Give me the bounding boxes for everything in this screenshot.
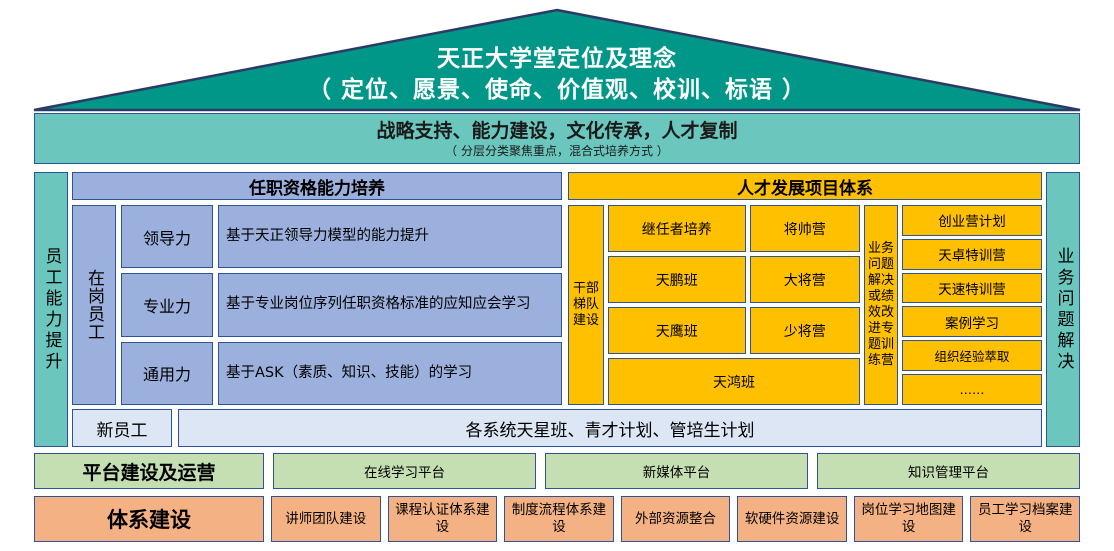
new-employee-programs: 各系统天星班、青才计划、管培生计划	[178, 409, 1042, 447]
qualification-row: 专业力 基于专业岗位序列任职资格标准的应知应会学习	[121, 273, 562, 336]
cadre-row: 天鹰班 少将营	[608, 307, 860, 354]
system-item-trainer-team: 讲师团队建设	[271, 496, 381, 542]
cadre-tianpeng-class: 天鹏班	[608, 256, 746, 303]
system-construction-row: 体系建设 讲师团队建设 课程认证体系建设 制度流程体系建设 外部资源整合 软硬件…	[34, 496, 1080, 542]
capability-leadership: 领导力	[121, 205, 213, 268]
diagram-root: 天正大学堂定位及理念 （ 定位、愿景、使命、价值观、校训、标语 ） 战略支持、能…	[0, 0, 1114, 551]
capability-general: 通用力	[121, 342, 213, 405]
new-employee-tag: 新员工	[72, 409, 172, 447]
cadre-minor-general-camp: 少将营	[750, 307, 860, 354]
business-program-list: 创业营计划 天卓特训营 天速特训营 案例学习 组织经验萃取 ……	[902, 205, 1042, 405]
system-item-hardware-software: 软硬件资源建设	[737, 496, 847, 542]
system-item-course-certification: 课程认证体系建设	[388, 496, 498, 542]
platform-row: 平台建设及运营 在线学习平台 新媒体平台 知识管理平台	[34, 453, 1080, 489]
talent-development-group: 人才发展项目体系 干部梯队建设 继任者培养 将帅营 天鹏班 大将营	[568, 172, 1042, 405]
qualification-row: 通用力 基于ASK（素质、知识、技能）的学习	[121, 342, 562, 405]
cadre-tianying-class: 天鹰班	[608, 307, 746, 354]
system-item-learning-records: 员工学习档案建设	[970, 496, 1080, 542]
system-lead-label: 体系建设	[34, 496, 264, 542]
system-item-learning-map: 岗位学习地图建设	[854, 496, 964, 542]
cadre-successor-training: 继任者培养	[608, 205, 746, 252]
platform-item-online-learning: 在线学习平台	[273, 453, 536, 489]
cadre-general-camp: 将帅营	[750, 205, 860, 252]
center-column: 任职资格能力培养 在岗员工 领导力 基于天正领导力模型的能力提升 专业力 基于专…	[72, 172, 1042, 447]
cadre-row: 天鸿班	[608, 358, 860, 405]
right-pillar-business-problem-solving: 业务问题解决	[1046, 172, 1080, 447]
qualification-row: 领导力 基于天正领导力模型的能力提升	[121, 205, 562, 268]
main-body: 员工能力提升 任职资格能力培养 在岗员工 领导力 基于天正领导力模型的能力提升	[34, 172, 1080, 447]
business-item-tianzhuo-camp: 天卓特训营	[902, 239, 1042, 270]
capability-professional-description: 基于专业岗位序列任职资格标准的应知应会学习	[218, 273, 562, 336]
capability-leadership-description: 基于天正领导力模型的能力提升	[218, 205, 562, 268]
roof-shape-icon	[32, 8, 1082, 112]
strategy-band: 战略支持、能力建设，文化传承，人才复制 （ 分层分类聚焦重点，混合式培养方式 ）	[34, 113, 1080, 164]
business-item-case-study: 案例学习	[902, 306, 1042, 337]
capability-general-description: 基于ASK（素质、知识、技能）的学习	[218, 342, 562, 405]
qualification-header: 任职资格能力培养	[72, 172, 562, 200]
left-pillar-employee-capability: 员工能力提升	[34, 172, 68, 447]
cadre-tianhong-class: 天鸿班	[608, 358, 860, 405]
qualification-group: 任职资格能力培养 在岗员工 领导力 基于天正领导力模型的能力提升 专业力 基于专…	[72, 172, 562, 405]
system-item-external-resources: 外部资源整合	[621, 496, 731, 542]
onjob-employee-tab: 在岗员工	[72, 205, 116, 405]
cadre-major-general-camp: 大将营	[750, 256, 860, 303]
business-item-tiansu-camp: 天速特训营	[902, 273, 1042, 304]
business-problem-camp-tab: 业务问题解决或绩效改进专题训练营	[864, 205, 898, 405]
business-item-experience-extraction: 组织经验萃取	[902, 340, 1042, 371]
platform-item-new-media: 新媒体平台	[545, 453, 808, 489]
cadre-program-grid: 继任者培养 将帅营 天鹏班 大将营 天鹰班 少将营	[608, 205, 860, 405]
strategy-band-subtitle: （ 分层分类聚焦重点，混合式培养方式 ）	[445, 143, 669, 159]
new-employee-row: 新员工 各系统天星班、青才计划、管培生计划	[72, 409, 1042, 447]
system-item-process-system: 制度流程体系建设	[504, 496, 614, 542]
platform-item-knowledge-management: 知识管理平台	[817, 453, 1080, 489]
roof-banner: 天正大学堂定位及理念 （ 定位、愿景、使命、价值观、校训、标语 ）	[32, 8, 1082, 112]
programs-area: 任职资格能力培养 在岗员工 领导力 基于天正领导力模型的能力提升 专业力 基于专…	[72, 172, 1042, 405]
business-item-startup-camp: 创业营计划	[902, 205, 1042, 236]
cadre-row: 天鹏班 大将营	[608, 256, 860, 303]
strategy-band-title: 战略支持、能力建设，文化传承，人才复制	[376, 119, 737, 143]
talent-development-header: 人才发展项目体系	[568, 172, 1042, 200]
cadre-echelon-tab: 干部梯队建设	[568, 205, 604, 405]
cadre-row: 继任者培养 将帅营	[608, 205, 860, 252]
business-item-ellipsis: ……	[902, 374, 1042, 405]
capability-professional: 专业力	[121, 273, 213, 336]
platform-lead-label: 平台建设及运营	[34, 453, 264, 489]
